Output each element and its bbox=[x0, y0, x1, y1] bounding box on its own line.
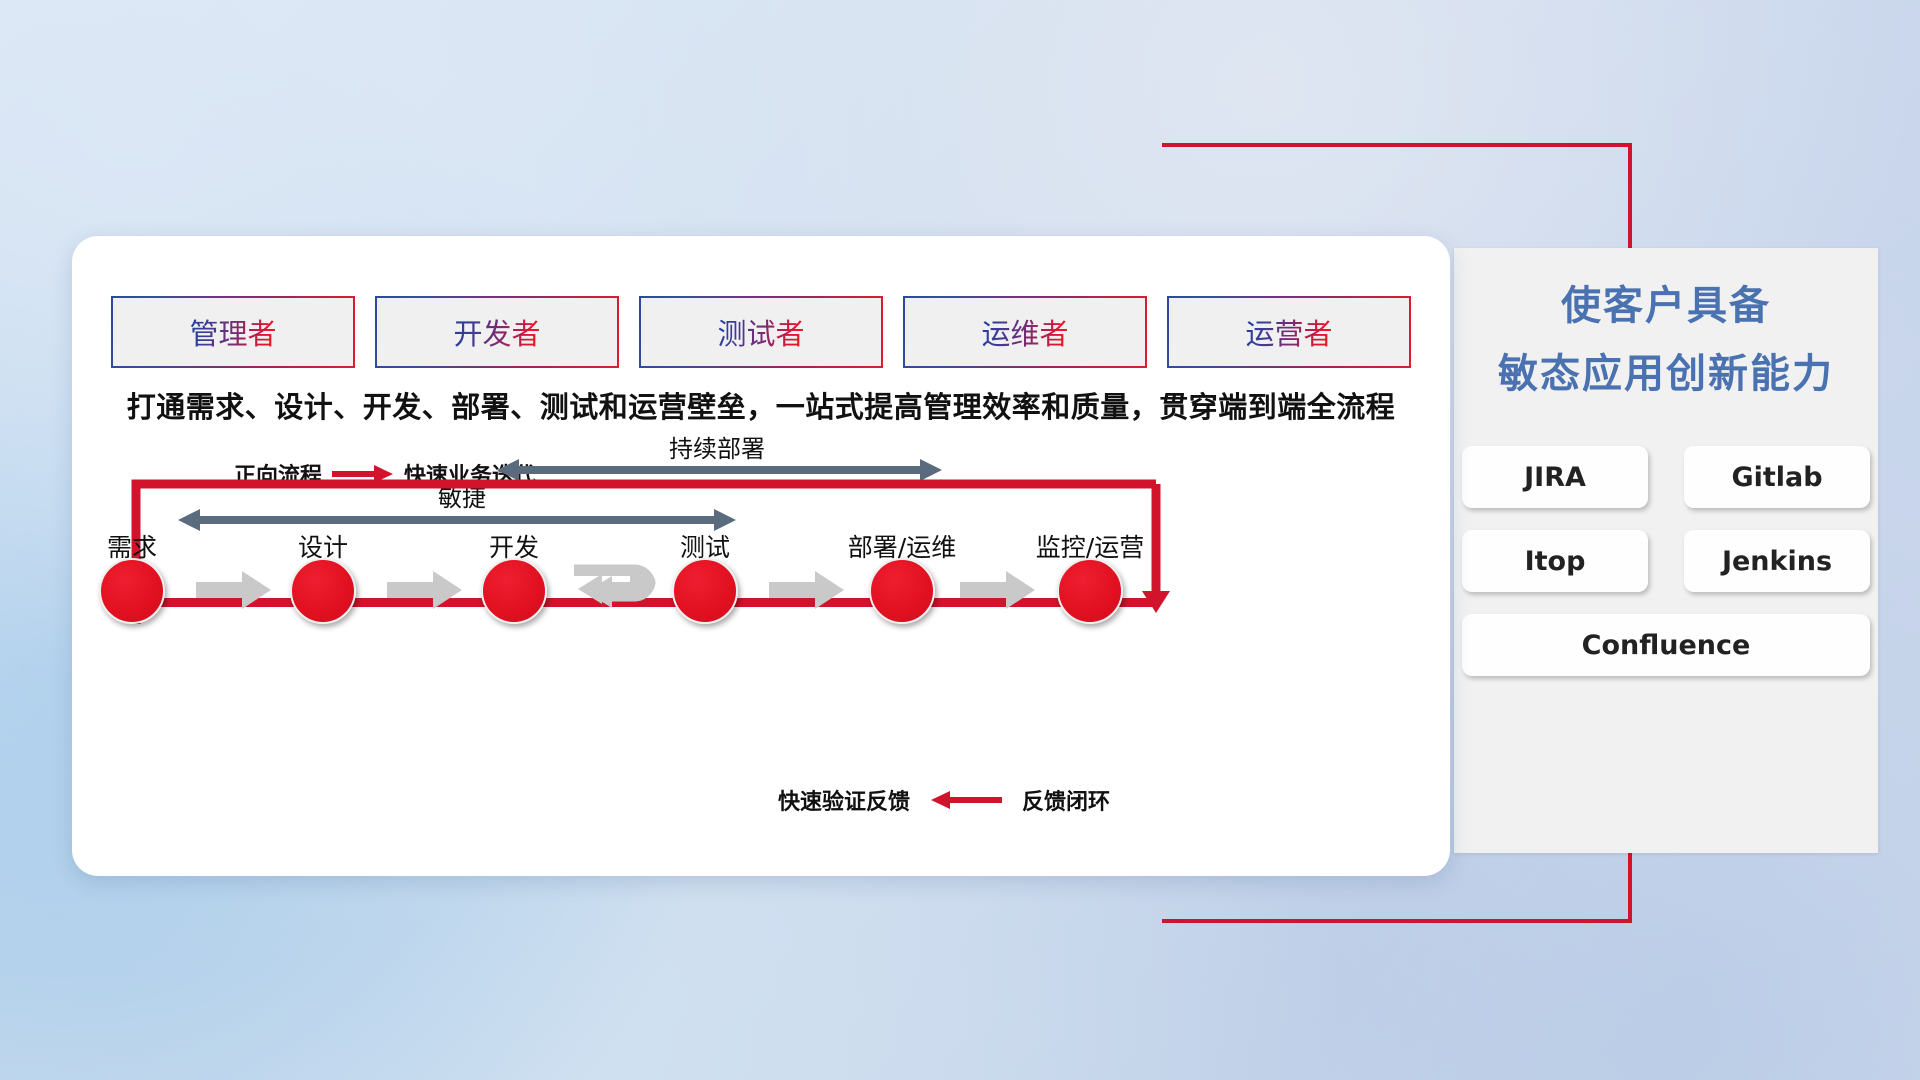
tool-chip-itop[interactable]: Itop bbox=[1462, 530, 1648, 592]
flow-arrow-req-to-design bbox=[196, 570, 272, 610]
role-box-developer[interactable]: 开发者 bbox=[375, 296, 619, 368]
panel-title-line2: 敏态应用创新能力 bbox=[1454, 326, 1878, 394]
role-box-ops[interactable]: 运维者 bbox=[903, 296, 1147, 368]
stage-node-design[interactable] bbox=[290, 558, 356, 624]
stage-node-test[interactable] bbox=[672, 558, 738, 624]
stage-node-develop[interactable] bbox=[481, 558, 547, 624]
legend-feedback-right-label: 反馈闭环 bbox=[1022, 784, 1110, 816]
capability-panel: 使客户具备 敏态应用创新能力 JIRA Gitlab Itop Jenkins … bbox=[1454, 248, 1878, 853]
tool-chip-jira[interactable]: JIRA bbox=[1462, 446, 1648, 508]
tool-chip-jenkins[interactable]: Jenkins bbox=[1684, 530, 1870, 592]
role-box-tester[interactable]: 测试者 bbox=[639, 296, 883, 368]
stage-node-monitor-ops[interactable] bbox=[1057, 558, 1123, 624]
flow-arrow-dev-test-loop-icon bbox=[572, 562, 672, 620]
tool-chip-confluence[interactable]: Confluence bbox=[1462, 614, 1870, 676]
role-box-row: 管理者 开发者 测试者 运维者 运营者 bbox=[111, 296, 1411, 368]
flow-arrow-deploy-to-monitor bbox=[960, 570, 1036, 610]
tagline: 打通需求、设计、开发、部署、测试和运营壁垒，一站式提高管理效率和质量，贯穿端到端… bbox=[72, 384, 1450, 426]
stage-node-requirement[interactable] bbox=[99, 558, 165, 624]
stage-node-deploy-ops[interactable] bbox=[869, 558, 935, 624]
role-box-operator[interactable]: 运营者 bbox=[1167, 296, 1411, 368]
role-box-manager[interactable]: 管理者 bbox=[111, 296, 355, 368]
arrow-left-red-icon bbox=[930, 790, 1002, 810]
panel-title-line1: 使客户具备 bbox=[1454, 248, 1878, 326]
legend-feedback-loop: 快速验证反馈 反馈闭环 bbox=[778, 784, 1110, 816]
flow-arrow-test-to-deploy bbox=[769, 570, 845, 610]
tool-list: JIRA Gitlab Itop Jenkins Confluence bbox=[1454, 446, 1878, 698]
flow-arrow-design-to-dev bbox=[387, 570, 463, 610]
tool-chip-gitlab[interactable]: Gitlab bbox=[1684, 446, 1870, 508]
legend-feedback-left-label: 快速验证反馈 bbox=[778, 784, 910, 816]
devops-flow-card: 管理者 开发者 测试者 运维者 运营者 打通需求、设计、开发、部署、测试和运营壁… bbox=[72, 236, 1450, 876]
panel-title: 使客户具备 敏态应用创新能力 bbox=[1454, 248, 1878, 394]
